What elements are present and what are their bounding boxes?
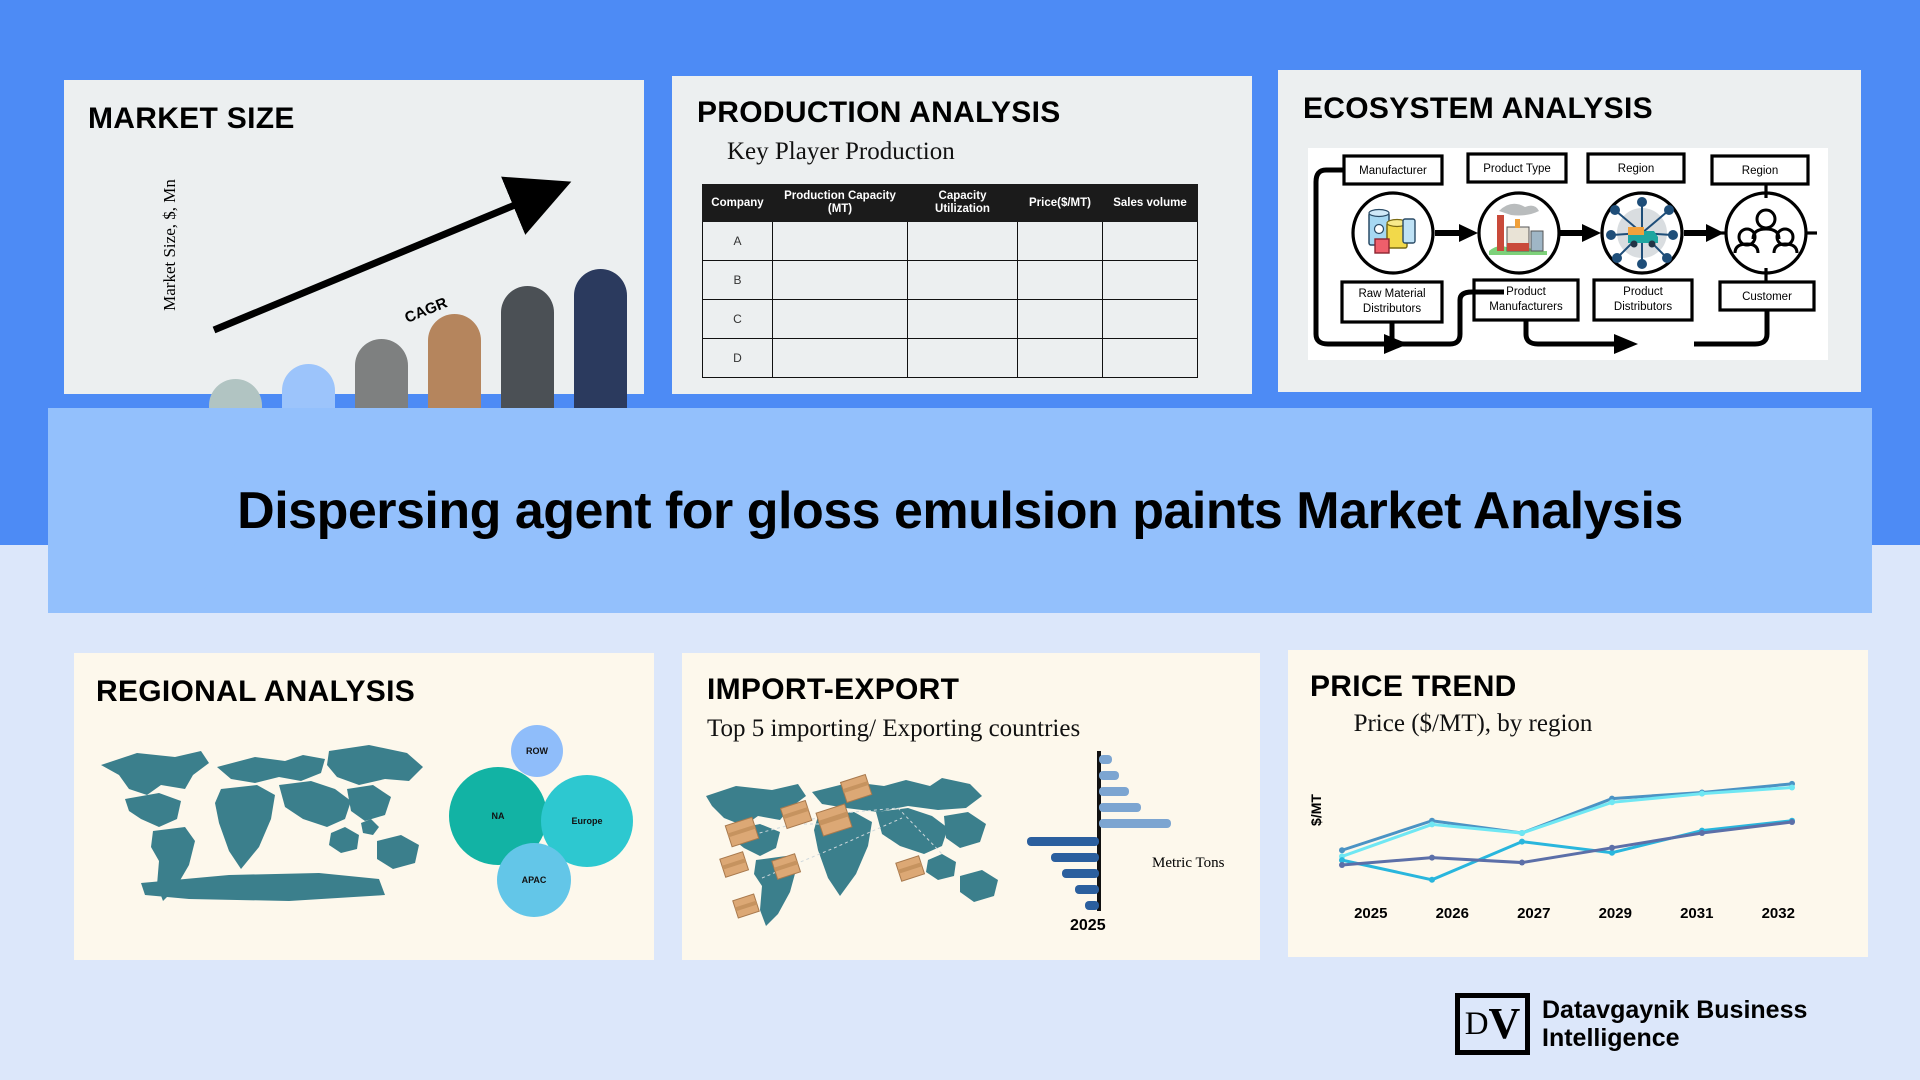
table-cell — [908, 300, 1018, 339]
company-logo: DV Datavgaynik Business Intelligence — [1455, 988, 1875, 1060]
table-cell: D — [703, 339, 773, 378]
table-column-header: Production Capacity (MT) — [773, 185, 908, 222]
logo-mark-dv: DV — [1455, 993, 1530, 1055]
table-row: D — [703, 339, 1198, 378]
table-cell — [1018, 261, 1103, 300]
price-point — [1429, 877, 1435, 883]
table-cell — [773, 300, 908, 339]
table-cell — [1103, 261, 1198, 300]
price-point — [1789, 785, 1795, 791]
panel-regional-analysis: REGIONAL ANALYSIS NAEuropeAPACROW — [74, 653, 654, 960]
tornado-bar-importing — [1099, 755, 1112, 764]
panel-market-size: MARKET SIZE Market Size, $, Mn CAGR 2025… — [64, 80, 644, 394]
production-analysis-subtitle: Key Player Production — [727, 138, 955, 166]
price-point — [1429, 821, 1435, 827]
tornado-bar-exporting — [1075, 885, 1099, 894]
tornado-year-label: 2025 — [1070, 917, 1106, 935]
ecosystem-diagram: Manufacturer Product Type Region Region … — [1308, 148, 1828, 360]
table-cell: B — [703, 261, 773, 300]
price-point — [1519, 839, 1525, 845]
tornado-bar-importing — [1099, 803, 1141, 812]
price-point — [1609, 845, 1615, 851]
price-trend-title: PRICE TREND — [1310, 670, 1517, 704]
banner-title: Dispersing agent for gloss emulsion pain… — [48, 408, 1872, 613]
logo-company-name: Datavgaynik Business Intelligence — [1542, 996, 1807, 1052]
table-cell — [908, 261, 1018, 300]
import-export-title: IMPORT-EXPORT — [707, 673, 959, 707]
table-cell — [1018, 222, 1103, 261]
price-trend-x-tick: 2032 — [1738, 905, 1820, 922]
price-trend-lines — [1330, 760, 1820, 905]
production-analysis-title: PRODUCTION ANALYSIS — [697, 96, 1061, 130]
tornado-bar-exporting — [1085, 901, 1099, 910]
region-bubble-apac: APAC — [497, 843, 571, 917]
price-point — [1789, 819, 1795, 825]
eco-top-label-1: Product Type — [1483, 163, 1551, 175]
price-point — [1339, 847, 1345, 853]
table-cell — [1018, 339, 1103, 378]
tornado-bar-importing — [1099, 771, 1119, 780]
tornado-bar-exporting — [1051, 853, 1099, 862]
table-row: C — [703, 300, 1198, 339]
svg-text:Product: Product — [1506, 286, 1546, 298]
table-cell — [1103, 339, 1198, 378]
svg-text:Raw Material: Raw Material — [1358, 288, 1425, 300]
price-trend-y-axis-label: $/MT — [1308, 794, 1324, 826]
price-trend-x-tick: 2025 — [1330, 905, 1412, 922]
table-row: B — [703, 261, 1198, 300]
market-size-bar — [574, 269, 627, 430]
table-cell — [908, 339, 1018, 378]
table-column-header: Sales volume — [1103, 185, 1198, 222]
tornado-bar-exporting — [1027, 837, 1099, 846]
panel-production-analysis: PRODUCTION ANALYSIS Key Player Productio… — [672, 76, 1252, 394]
tornado-unit-label: Metric Tons — [1152, 855, 1224, 872]
price-point — [1699, 791, 1705, 797]
import-export-tornado-chart: Metric Tons — [1012, 751, 1227, 941]
price-point — [1699, 830, 1705, 836]
price-trend-x-tick: 2026 — [1412, 905, 1494, 922]
price-trend-subtitle: Price ($/MT), by region — [1348, 708, 1598, 739]
region-bubble-row: ROW — [511, 725, 563, 777]
tornado-bar-importing — [1099, 787, 1129, 796]
market-size-title: MARKET SIZE — [88, 102, 295, 136]
svg-text:Distributors: Distributors — [1614, 301, 1672, 313]
regional-analysis-title: REGIONAL ANALYSIS — [96, 675, 415, 709]
table-cell — [908, 222, 1018, 261]
svg-text:Distributors: Distributors — [1363, 303, 1421, 315]
price-point — [1339, 862, 1345, 868]
table-cell: C — [703, 300, 773, 339]
eco-top-label-3: Region — [1742, 165, 1778, 177]
table-column-header: Capacity Utilization — [908, 185, 1018, 222]
table-column-header: Company — [703, 185, 773, 222]
price-trend-x-tick: 2031 — [1656, 905, 1738, 922]
table-cell: A — [703, 222, 773, 261]
price-trend-x-tick: 2029 — [1575, 905, 1657, 922]
import-export-subtitle: Top 5 importing/ Exporting countries — [707, 715, 1080, 743]
panel-ecosystem-analysis: ECOSYSTEM ANALYSIS — [1278, 70, 1861, 392]
table-header-row: CompanyProduction Capacity (MT)Capacity … — [703, 185, 1198, 222]
price-point — [1429, 855, 1435, 861]
panel-price-trend: PRICE TREND Price ($/MT), by region $/MT… — [1288, 650, 1868, 957]
table-cell — [773, 261, 908, 300]
market-size-bars — [209, 250, 659, 430]
price-point — [1519, 830, 1525, 836]
key-player-production-table: CompanyProduction Capacity (MT)Capacity … — [702, 184, 1198, 378]
table-cell — [1103, 300, 1198, 339]
eco-top-label-2: Region — [1618, 163, 1654, 175]
price-point — [1519, 860, 1525, 866]
table-cell — [773, 222, 908, 261]
logo-line-1: Datavgaynik Business — [1542, 996, 1807, 1024]
table-row: A — [703, 222, 1198, 261]
logo-line-2: Intelligence — [1542, 1024, 1807, 1052]
trade-routes-map-icon — [702, 758, 1002, 933]
table-cell — [1018, 300, 1103, 339]
panel-import-export: IMPORT-EXPORT Top 5 importing/ Exporting… — [682, 653, 1260, 960]
table-column-header: Price($/MT) — [1018, 185, 1103, 222]
regional-bubbles: NAEuropeAPACROW — [449, 715, 639, 925]
eco-top-label-0: Manufacturer — [1359, 165, 1427, 177]
svg-text:Customer: Customer — [1742, 291, 1792, 303]
svg-text:Manufacturers: Manufacturers — [1489, 301, 1563, 313]
logo-letter-v: V — [1489, 1002, 1521, 1046]
price-trend-x-axis: 202520262027202920312032 — [1330, 905, 1820, 922]
svg-text:Product: Product — [1623, 286, 1663, 298]
ecosystem-analysis-title: ECOSYSTEM ANALYSIS — [1303, 92, 1653, 126]
tornado-bar-exporting — [1062, 869, 1099, 878]
price-point — [1609, 799, 1615, 805]
price-trend-x-tick: 2027 — [1493, 905, 1575, 922]
table-cell — [773, 339, 908, 378]
table-cell — [1103, 222, 1198, 261]
tornado-bar-importing — [1099, 819, 1171, 828]
world-map-icon — [89, 723, 434, 938]
logo-letter-d: D — [1465, 1008, 1489, 1041]
